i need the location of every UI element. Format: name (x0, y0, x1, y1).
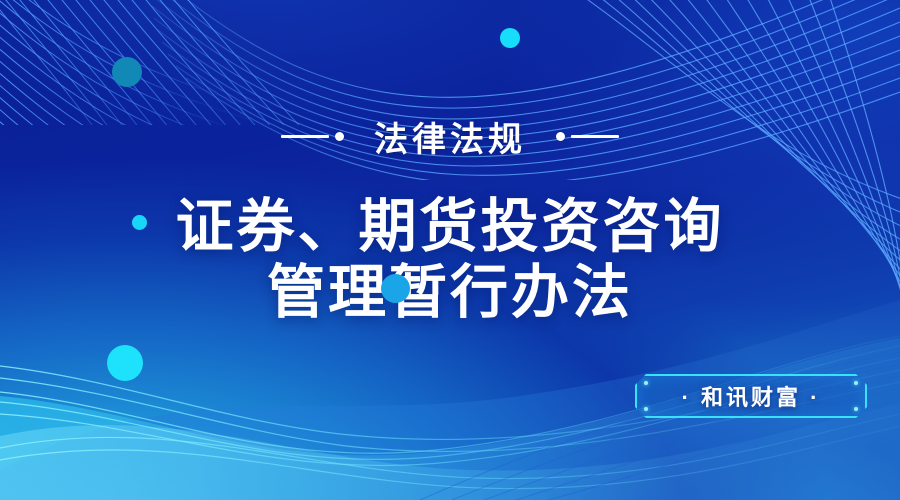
eyebrow-row: 法律法规 (0, 112, 900, 161)
banner-content: 法律法规 证券、期货投资咨询 管理暂行办法 · 和讯财富 · (0, 0, 900, 500)
page-title: 证券、期货投资咨询 管理暂行办法 (0, 194, 900, 326)
accent-circle-cyan-title-left (132, 215, 147, 230)
category-label: 法律法规 (374, 112, 526, 161)
rule-right-bar (571, 135, 619, 138)
rule-left-dot (335, 132, 344, 141)
rule-right-dot (556, 132, 565, 141)
rule-left-decoration (281, 132, 344, 141)
rule-right-decoration (556, 132, 619, 141)
title-line-2: 管理暂行办法 (0, 260, 900, 326)
rule-left-bar (281, 135, 329, 138)
accent-circle-cyan-title-inline (381, 274, 410, 303)
legal-regulation-banner: 法律法规 证券、期货投资咨询 管理暂行办法 · 和讯财富 · (0, 0, 900, 500)
brand-badge: · 和讯财富 · (635, 374, 867, 418)
brand-badge-label: · 和讯财富 · (635, 374, 867, 418)
